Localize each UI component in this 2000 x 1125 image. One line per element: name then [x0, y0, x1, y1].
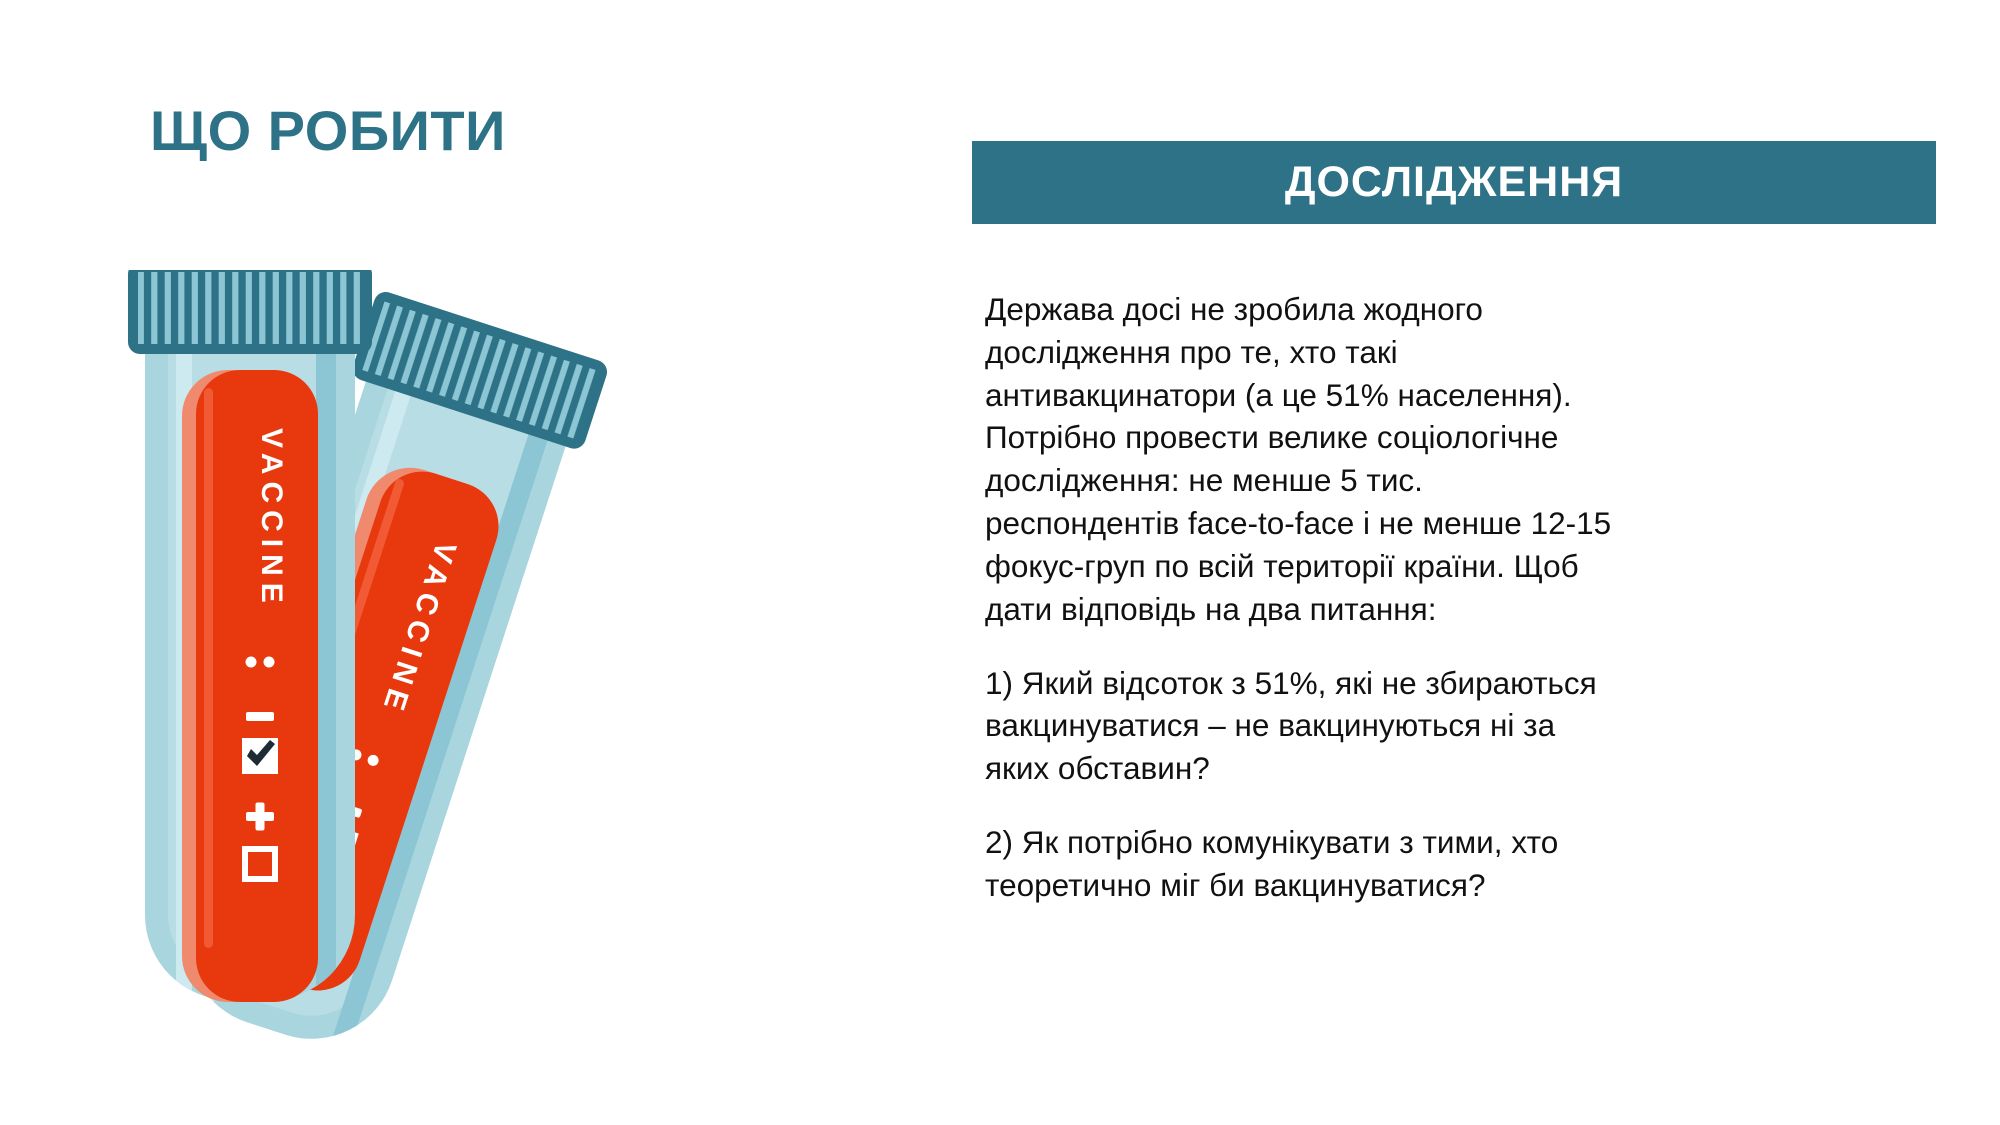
section-banner: ДОСЛІДЖЕННЯ: [972, 141, 1936, 224]
body-intro-paragraph: Держава досі не зробила жодного дослідже…: [985, 288, 1615, 631]
body-question-1: 1) Який відсоток з 51%, які не збираютьс…: [985, 662, 1615, 790]
vial-liquid-label: VACCINE: [182, 370, 318, 1002]
vaccine-vial-upright: VACCINE: [128, 270, 372, 1015]
vaccine-vials-illustration: VACCINE: [120, 270, 800, 1060]
vial-cap: [128, 270, 372, 354]
section-banner-label: ДОСЛІДЖЕННЯ: [1285, 161, 1623, 204]
body-copy: Держава досі не зробила жодного дослідже…: [985, 288, 1615, 907]
vial-shadow: [316, 325, 336, 1015]
body-question-2: 2) Як потрібно комунікувати з тими, хто …: [985, 821, 1615, 907]
paragraph-spacer: [985, 631, 1615, 662]
vial-label-text: VACCINE: [255, 428, 288, 610]
paragraph-spacer: [985, 790, 1615, 821]
page-title: ЩО РОБИТИ: [150, 100, 506, 162]
